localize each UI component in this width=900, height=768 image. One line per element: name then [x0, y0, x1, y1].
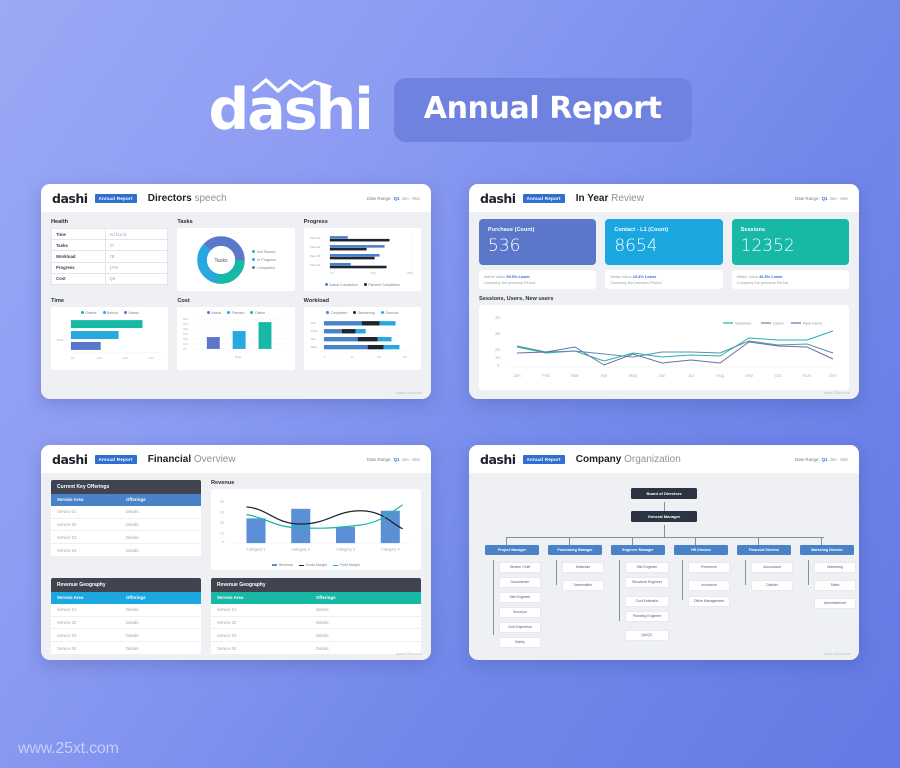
- org-leaf[interactable]: Insurance: [688, 580, 730, 591]
- svg-text:0%: 0%: [71, 356, 75, 360]
- svg-text:0: 0: [497, 363, 500, 368]
- org-spine: [682, 560, 683, 600]
- table-row: Service 01Details: [51, 604, 201, 617]
- svg-text:40%: 40%: [183, 327, 189, 331]
- kpi-value: 536: [488, 238, 587, 255]
- kpi-foot-pre: Metric Value: [610, 274, 632, 279]
- progress-panel-title: Progress: [304, 219, 421, 225]
- org-connector: [569, 537, 570, 545]
- svg-text:Mar: Mar: [571, 373, 579, 378]
- slide4-logo: dashi: [480, 452, 516, 467]
- svg-text:Main: Main: [311, 345, 317, 349]
- svg-text:Site: Site: [311, 337, 316, 341]
- kpi-foot-pre: Metric Value: [484, 274, 506, 279]
- svg-text:Aug: Aug: [716, 373, 725, 378]
- slide2-date-value: Jan - Mar: [829, 196, 848, 201]
- kpi-foot-pre: Metric Value: [737, 274, 759, 279]
- legend-item: Not Started: [252, 250, 275, 254]
- health-key: Cost: [52, 273, 106, 284]
- time-panel-title: Time: [51, 298, 168, 304]
- time-svg: Time 0% 10% 20% 30%: [55, 315, 164, 363]
- time-panel: Time Ontime Behind Ahead Time: [51, 298, 168, 370]
- kpi-foot-post: Company the previous Period: [737, 280, 788, 285]
- slide4-date-value: Jan - Mar: [829, 457, 848, 462]
- svg-text:20%: 20%: [123, 356, 129, 360]
- svg-text:100: 100: [376, 355, 381, 359]
- org-leaf[interactable]: Surveyor: [499, 607, 541, 618]
- health-key: Workload: [52, 251, 106, 262]
- org-leaf[interactable]: Site Engineer: [625, 562, 669, 573]
- org-head-engineer-manager[interactable]: Engineer Manager: [611, 545, 665, 555]
- svg-text:Lab: Lab: [311, 321, 316, 325]
- org-node-gm[interactable]: General Manager: [631, 511, 697, 522]
- org-leaf[interactable]: QA/QC: [625, 630, 669, 641]
- svg-text:Time: Time: [235, 355, 242, 359]
- cost-bar-chart: Actual Planned Online 60%50%40% 30%20%10…: [177, 307, 294, 370]
- slide-directors-speech[interactable]: dashi Annual Report Directors speech Dat…: [41, 184, 431, 399]
- time-bar-chart: Ontime Behind Ahead Time 0% 10%: [51, 307, 168, 370]
- tasks-donut-chart: Tasks Not Started In Progress Completed: [177, 228, 294, 291]
- org-head-hr-director[interactable]: HR Director: [674, 545, 728, 555]
- slide3-header: dashi Annual Report Financial Overview D…: [41, 445, 431, 473]
- org-leaf[interactable]: Necessities: [562, 580, 604, 591]
- slide1-logo: dashi: [52, 191, 88, 206]
- org-connector: [506, 537, 824, 538]
- kpi-foot-bold: 55.5% Lower: [506, 274, 530, 279]
- svg-text:0: 0: [222, 540, 224, 544]
- svg-text:10%: 10%: [97, 356, 103, 360]
- slide4-title: Company Organization: [576, 454, 681, 465]
- svg-text:0%: 0%: [183, 347, 187, 351]
- svg-text:May: May: [629, 373, 638, 378]
- slide3-watermark: www.25xt.com: [396, 651, 422, 656]
- svg-text:50%: 50%: [370, 271, 376, 275]
- org-connector: [506, 537, 507, 545]
- org-head-financial-director[interactable]: Financial Director: [737, 545, 791, 555]
- kpi-value: 8654: [614, 238, 713, 255]
- slide1-title-light: speech: [194, 193, 226, 204]
- health-key: Time: [52, 229, 106, 240]
- slide-in-year-review[interactable]: dashi Annual Report In Year Review Date …: [469, 184, 859, 399]
- slide2-title-bold: In Year: [576, 193, 609, 204]
- kpi-value: 12352: [741, 238, 840, 255]
- table-row: Service 02Details: [211, 617, 421, 630]
- svg-text:30%: 30%: [183, 332, 189, 336]
- svg-text:Task 01: Task 01: [310, 236, 321, 240]
- org-spine: [619, 560, 620, 621]
- svg-text:Category 3: Category 3: [336, 548, 355, 552]
- svg-text:20: 20: [220, 521, 224, 525]
- org-leaf[interactable]: Structural Engineer: [625, 577, 669, 588]
- org-leaf[interactable]: Cashier: [751, 580, 793, 591]
- slide-financial-overview[interactable]: dashi Annual Report Financial Overview D…: [41, 445, 431, 660]
- slide4-date-quarter: Q1: [822, 457, 828, 462]
- geo-right-table: Revenue Geography Service Area Offerings…: [211, 578, 421, 655]
- org-leaf[interactable]: Documenter: [499, 577, 541, 588]
- org-leaf[interactable]: Office Management: [688, 596, 730, 607]
- tasks-panel: Tasks Tasks Not Started In Progress Comp…: [177, 219, 294, 291]
- slide2-tag: Annual Report: [523, 194, 565, 203]
- brand-logo: dashi: [208, 82, 371, 139]
- col-service-area: Service Area: [57, 595, 126, 600]
- slide2-date-quarter: Q1: [822, 196, 828, 201]
- health-value: 78: [105, 251, 168, 262]
- slide4-header: dashi Annual Report Company Organization…: [469, 445, 859, 473]
- kpi-foot-bold: 23.3% Lower: [633, 274, 657, 279]
- org-head-project-manager[interactable]: Project Manager: [485, 545, 539, 555]
- health-value: Q4: [105, 273, 168, 284]
- svg-text:Jan: Jan: [513, 373, 521, 378]
- org-leaf[interactable]: Site Engineer: [499, 592, 541, 603]
- svg-text:Task 04: Task 04: [310, 263, 321, 267]
- progress-svg: Task 01 Task 02 Task 03 Task 04: [308, 232, 417, 277]
- hero-header: dashi Annual Report: [0, 0, 900, 142]
- slide4-title-bold: Company: [576, 454, 622, 465]
- svg-text:Jul: Jul: [688, 373, 694, 378]
- svg-text:Category 4: Category 4: [381, 548, 400, 552]
- workload-panel-title: Workload: [304, 298, 421, 304]
- slide1-date-label: Date Range:: [367, 196, 392, 201]
- org-spine: [556, 560, 557, 585]
- table-row: CostQ4: [52, 273, 168, 284]
- col-offerings: Offerings: [316, 595, 415, 600]
- offerings-columns: Service Area Offerings: [51, 494, 201, 506]
- line-chart-title: Sessions, Users, New users: [479, 296, 849, 302]
- slide3-title-light: Overview: [194, 454, 236, 465]
- kpi-foot-post: Company the previous Period: [610, 280, 661, 285]
- legend-item: Gross Margin: [299, 563, 327, 567]
- org-leaf[interactable]: Section Chief: [499, 562, 541, 573]
- table-row: Tasks27: [52, 240, 168, 251]
- offerings-table: Current Key Offerings Service Area Offer…: [51, 480, 201, 570]
- cost-svg: 60%50%40% 30%20%10% 0%: [181, 315, 290, 363]
- svg-text:100%: 100%: [406, 271, 413, 275]
- kpi-label: Sessions: [741, 227, 840, 233]
- offerings-title: Current Key Offerings: [51, 480, 201, 494]
- org-leaf[interactable]: Materials: [562, 562, 604, 573]
- svg-text:0%: 0%: [330, 271, 334, 275]
- slide4-title-light: Organization: [624, 454, 681, 465]
- table-row: Progress17%: [52, 262, 168, 273]
- slide1-title: Directors speech: [148, 193, 227, 204]
- revenue-svg: 4030 20100 Category 1Category 2: [216, 492, 416, 558]
- geo-left-table: Revenue Geography Service Area Offerings…: [51, 578, 201, 655]
- org-leaf[interactable]: Planning Engineer: [625, 611, 669, 622]
- slide4-watermark: www.25xt.com: [824, 651, 850, 656]
- svg-text:50%: 50%: [183, 322, 189, 326]
- table-row: Service 04Details: [211, 642, 421, 655]
- site-watermark: www.25xt.com: [18, 740, 119, 758]
- org-leaf[interactable]: Advertisement: [814, 598, 856, 609]
- cost-panel-title: Cost: [177, 298, 294, 304]
- svg-text:Front: Front: [311, 329, 318, 333]
- table-row: Service 01Details: [51, 506, 201, 519]
- slide2-logo: dashi: [480, 191, 516, 206]
- sessions-svg: 4030 20100 JanFebMar AprMayJun JulAugSep…: [485, 309, 843, 381]
- legend-item: Revenue: [272, 563, 293, 567]
- legend-item: Actual Completion: [325, 283, 358, 287]
- svg-text:30: 30: [495, 331, 501, 336]
- svg-text:Time: Time: [57, 338, 64, 342]
- org-leaf[interactable]: Marketing: [814, 562, 856, 573]
- slide3-logo: dashi: [52, 452, 88, 467]
- slide3-body: Current Key Offerings Service Area Offer…: [41, 473, 431, 660]
- kpi-footnote: Metric Value 55.5% Lower Company the pre…: [479, 270, 596, 289]
- slide2-title: In Year Review: [576, 193, 644, 204]
- geo-left-title: Revenue Geography: [51, 578, 201, 592]
- geo-right-columns: Service Area Offerings: [211, 592, 421, 604]
- org-spine: [808, 560, 809, 585]
- org-spine: [493, 560, 494, 635]
- org-leaf[interactable]: Safety: [499, 637, 541, 648]
- progress-bar-chart: Task 01 Task 02 Task 03 Task 04: [304, 228, 421, 291]
- slide3-date-label: Date Range:: [367, 457, 392, 462]
- org-leaf[interactable]: Civil Supervisor: [499, 622, 541, 633]
- svg-text:Apr: Apr: [600, 373, 608, 378]
- slide2-header: dashi Annual Report In Year Review Date …: [469, 184, 859, 212]
- slide4-tag: Annual Report: [523, 455, 565, 464]
- health-table: TimeAd hoc'ic Tasks27 Workload78 Progres…: [51, 228, 168, 285]
- svg-text:Users: Users: [773, 321, 783, 326]
- svg-text:Feb: Feb: [542, 373, 550, 378]
- donut-center-label: Tasks: [215, 257, 229, 263]
- svg-text:Sep: Sep: [745, 373, 754, 378]
- table-row: Service 03Details: [51, 629, 201, 642]
- tasks-panel-title: Tasks: [177, 219, 294, 225]
- col-offerings: Offerings: [126, 595, 195, 600]
- slides-grid: dashi Annual Report Directors speech Dat…: [0, 184, 900, 660]
- slide4-date-label: Date Range:: [795, 457, 820, 462]
- health-key: Tasks: [52, 240, 106, 251]
- annual-report-badge: Annual Report: [394, 78, 692, 142]
- svg-text:New users: New users: [803, 321, 822, 326]
- table-row: Service 04Details: [51, 642, 201, 655]
- kpi-card-purchase[interactable]: Purchase (Count) 536 Metric Value 55.5% …: [479, 219, 596, 289]
- slide3-title: Financial Overview: [148, 454, 236, 465]
- slide3-title-bold: Financial: [148, 454, 191, 465]
- table-row: Service 03Details: [51, 531, 201, 544]
- health-panel: Health TimeAd hoc'ic Tasks27 Workload78 …: [51, 219, 168, 291]
- org-head-marketing-director[interactable]: Marketing Director: [800, 545, 854, 555]
- progress-legend: Actual Completion Planned Completion: [308, 283, 417, 287]
- svg-text:10: 10: [495, 355, 501, 360]
- revenue-combo-chart: 4030 20100 Category 1Category 2: [211, 489, 421, 570]
- workload-panel: Workload Completed Remaining Overdue Lab…: [304, 298, 421, 370]
- slide1-date-range: Date Range: Q1 Jan - Mar: [367, 196, 420, 201]
- slide1-header: dashi Annual Report Directors speech Dat…: [41, 184, 431, 212]
- svg-text:50: 50: [350, 355, 353, 359]
- svg-text:Nov: Nov: [803, 373, 812, 378]
- health-value: Ad hoc'ic: [105, 229, 168, 240]
- revenue-legend: Revenue Gross Margin Profit Margin: [216, 563, 416, 567]
- slide2-date-range: Date Range: Q1 Jan - Mar: [795, 196, 848, 201]
- org-head-purchasing-manager[interactable]: Purchasing Manager: [548, 545, 602, 555]
- slide2-body: Purchase (Count) 536 Metric Value 55.5% …: [469, 212, 859, 399]
- svg-text:Category 2: Category 2: [291, 548, 310, 552]
- kpi-label: Contact - L1 (Count): [614, 227, 713, 233]
- workload-svg: Lab Front Site Main 0 50 100: [308, 315, 417, 363]
- svg-text:60%: 60%: [183, 317, 189, 321]
- svg-text:Category 1: Category 1: [247, 548, 266, 552]
- table-row: TimeAd hoc'ic: [52, 229, 168, 240]
- org-connector: [758, 537, 759, 545]
- kpi-card-contact[interactable]: Contact - L1 (Count) 8654 Metric Value 2…: [605, 219, 722, 289]
- slide3-tag: Annual Report: [95, 455, 137, 464]
- table-row: Service 02Details: [51, 617, 201, 630]
- org-connector: [664, 525, 665, 537]
- kpi-footnote: Metric Value 46.5% Lower Company the pre…: [732, 270, 849, 289]
- donut-svg: Tasks: [196, 235, 246, 285]
- health-value: 17%: [105, 262, 168, 273]
- table-row: Service 02Details: [51, 519, 201, 532]
- org-connector: [695, 537, 696, 545]
- tasks-legend: Not Started In Progress Completed: [252, 250, 275, 270]
- svg-text:Oct: Oct: [774, 373, 782, 378]
- legend-item: Planned Completion: [364, 283, 400, 287]
- col-offerings: Offerings: [126, 497, 195, 502]
- health-value: 27: [105, 240, 168, 251]
- svg-text:Sessions: Sessions: [735, 321, 751, 326]
- svg-text:Task 03: Task 03: [310, 254, 321, 258]
- svg-text:Task 02: Task 02: [310, 245, 321, 249]
- slide1-body: Health TimeAd hoc'ic Tasks27 Workload78 …: [41, 212, 431, 399]
- slide4-body: Board of Directors General Manager Proje…: [469, 473, 859, 660]
- kpi-label: Purchase (Count): [488, 227, 587, 233]
- slide1-date-quarter: Q1: [394, 196, 400, 201]
- table-row: Workload78: [52, 251, 168, 262]
- table-row: Service 03Details: [211, 629, 421, 642]
- legend-item: Profit Margin: [333, 563, 360, 567]
- revenue-panel: Revenue 4030 20100: [211, 480, 421, 570]
- kpi-foot-bold: 46.5% Lower: [759, 274, 783, 279]
- kpi-row: Purchase (Count) 536 Metric Value 55.5% …: [479, 219, 849, 289]
- cost-panel: Cost Actual Planned Online 60%50%40% 30%…: [177, 298, 294, 370]
- slide3-date-value: Jan - Mar: [401, 457, 420, 462]
- geo-left-columns: Service Area Offerings: [51, 592, 201, 604]
- org-connector: [632, 537, 633, 545]
- col-service-area: Service Area: [57, 497, 126, 502]
- svg-text:10: 10: [220, 532, 224, 536]
- svg-text:20%: 20%: [183, 337, 189, 341]
- slide2-date-label: Date Range:: [795, 196, 820, 201]
- svg-text:30%: 30%: [148, 356, 154, 360]
- svg-text:40: 40: [220, 500, 224, 504]
- slide1-tag: Annual Report: [95, 194, 137, 203]
- revenue-title: Revenue: [211, 480, 421, 486]
- svg-text:Jun: Jun: [658, 373, 666, 378]
- col-service-area: Service Area: [217, 595, 316, 600]
- svg-text:Dec: Dec: [829, 373, 838, 378]
- slide3-date-quarter: Q1: [394, 457, 400, 462]
- org-leaf[interactable]: Personnel: [688, 562, 730, 573]
- svg-text:40: 40: [495, 315, 501, 320]
- svg-text:10%: 10%: [183, 342, 189, 346]
- org-leaf[interactable]: Sales: [814, 580, 856, 591]
- workload-bar-chart: Completed Remaining Overdue Lab Front Si…: [304, 307, 421, 370]
- svg-text:150: 150: [402, 355, 407, 359]
- logo-squiggle-icon: [252, 76, 342, 96]
- svg-text:0: 0: [324, 355, 326, 359]
- legend-item: In Progress: [252, 258, 275, 262]
- slide-company-organization[interactable]: dashi Annual Report Company Organization…: [469, 445, 859, 660]
- slide1-date-value: Jan - Mar: [401, 196, 420, 201]
- slide2-watermark: www.25xt.com: [824, 390, 850, 395]
- slide2-title-light: Review: [611, 193, 644, 204]
- svg-text:20: 20: [495, 347, 501, 352]
- table-row: Service 04Details: [51, 544, 201, 557]
- legend-item: Completed: [252, 266, 275, 270]
- sessions-line-chart: 4030 20100 JanFebMar AprMayJun JulAugSep…: [479, 305, 849, 390]
- health-key: Progress: [52, 262, 106, 273]
- slide4-date-range: Date Range: Q1 Jan - Mar: [795, 457, 848, 462]
- org-leaf[interactable]: Accountant: [751, 562, 793, 573]
- org-chart: Board of Directors General Manager Proje…: [479, 480, 849, 660]
- health-panel-title: Health: [51, 219, 168, 225]
- org-leaf[interactable]: Cost Estimator: [625, 596, 669, 607]
- progress-panel: Progress Task 01 Task 02 Task: [304, 219, 421, 291]
- kpi-foot-post: Company the previous Period: [484, 280, 535, 285]
- kpi-footnote: Metric Value 23.3% Lower Company the pre…: [605, 270, 722, 289]
- org-connector: [821, 537, 822, 545]
- table-row: Service 01Details: [211, 604, 421, 617]
- org-node-board[interactable]: Board of Directors: [631, 488, 697, 499]
- slide1-watermark: www.25xt.com: [396, 390, 422, 395]
- svg-text:30: 30: [220, 511, 224, 515]
- slide1-title-bold: Directors: [148, 193, 192, 204]
- geo-right-title: Revenue Geography: [211, 578, 421, 592]
- org-spine: [745, 560, 746, 585]
- kpi-card-sessions[interactable]: Sessions 12352 Metric Value 46.5% Lower …: [732, 219, 849, 289]
- slide3-date-range: Date Range: Q1 Jan - Mar: [367, 457, 420, 462]
